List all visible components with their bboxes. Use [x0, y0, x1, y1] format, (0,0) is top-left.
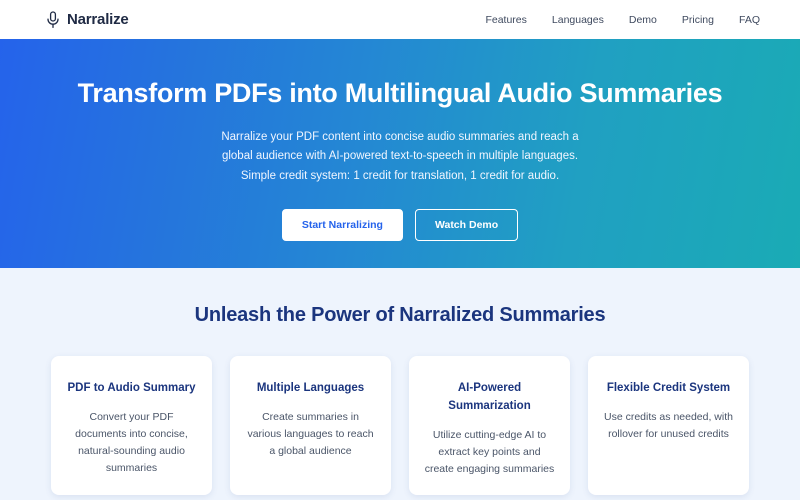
feature-card-title: Multiple Languages [244, 380, 377, 398]
start-narralizing-button[interactable]: Start Narralizing [282, 209, 403, 242]
feature-card-title: AI-Powered Summarization [423, 380, 556, 416]
feature-card-text: Utilize cutting-edge AI to extract key p… [423, 427, 556, 478]
hero-actions: Start Narralizing Watch Demo [282, 209, 518, 242]
watch-demo-button[interactable]: Watch Demo [415, 209, 518, 242]
feature-card-flexible-credit-system[interactable]: Flexible Credit System Use credits as ne… [588, 356, 749, 495]
features-heading: Unleash the Power of Narralized Summarie… [0, 304, 800, 327]
nav-link-demo[interactable]: Demo [629, 14, 657, 26]
nav-link-pricing[interactable]: Pricing [682, 14, 714, 26]
nav-link-languages[interactable]: Languages [552, 14, 604, 26]
feature-card-text: Use credits as needed, with rollover for… [602, 409, 735, 443]
hero-subtitle: Narralize your PDF content into concise … [221, 128, 578, 187]
feature-card-grid: PDF to Audio Summary Convert your PDF do… [0, 356, 800, 495]
feature-card-title: PDF to Audio Summary [65, 380, 198, 398]
hero-subtitle-line-2: global audience with AI-powered text-to-… [222, 150, 578, 162]
hero-title: Transform PDFs into Multilingual Audio S… [78, 79, 723, 109]
microphone-icon [46, 11, 60, 29]
main-nav: Features Languages Demo Pricing FAQ [485, 14, 760, 26]
feature-card-text: Create summaries in various languages to… [244, 409, 377, 460]
features-section: Unleash the Power of Narralized Summarie… [0, 268, 800, 495]
hero-subtitle-line-1: Narralize your PDF content into concise … [221, 131, 578, 143]
hero-subtitle-line-3: Simple credit system: 1 credit for trans… [241, 170, 559, 182]
nav-link-faq[interactable]: FAQ [739, 14, 760, 26]
feature-card-title: Flexible Credit System [602, 380, 735, 398]
site-header: Narralize Features Languages Demo Pricin… [0, 0, 800, 39]
feature-card-ai-powered-summarization[interactable]: AI-Powered Summarization Utilize cutting… [409, 356, 570, 495]
brand-name: Narralize [67, 11, 129, 28]
feature-card-text: Convert your PDF documents into concise,… [65, 409, 198, 477]
feature-card-pdf-to-audio-summary[interactable]: PDF to Audio Summary Convert your PDF do… [51, 356, 212, 495]
brand-logo[interactable]: Narralize [46, 11, 129, 29]
nav-link-features[interactable]: Features [485, 14, 526, 26]
feature-card-multiple-languages[interactable]: Multiple Languages Create summaries in v… [230, 356, 391, 495]
hero-section: Transform PDFs into Multilingual Audio S… [0, 39, 800, 268]
